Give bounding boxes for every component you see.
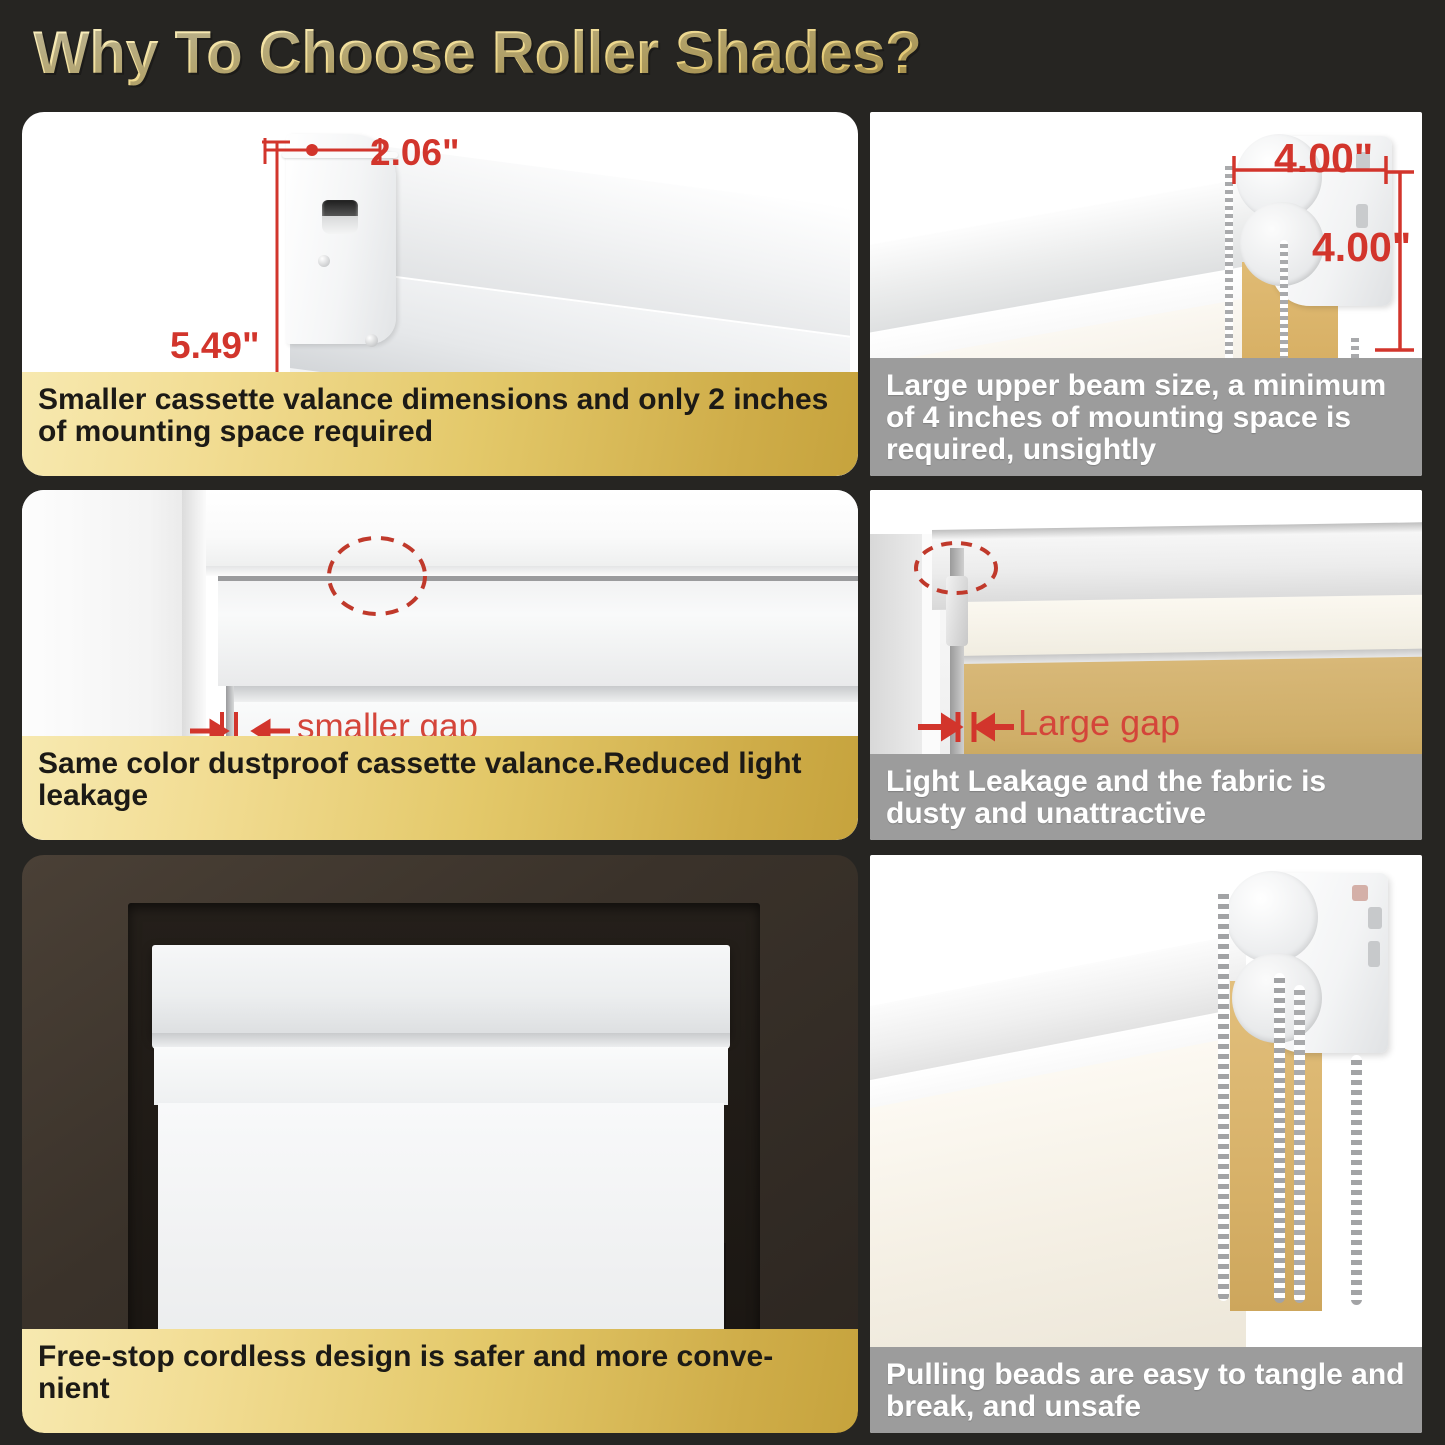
caption-con-upper-beam-size: Large upper beam size, a minimum of 4 in… [870, 358, 1422, 476]
caption-pro-cordless-design: Free-stop cordless design is safer and m… [22, 1329, 858, 1433]
caption-con-light-leakage: Light Leakage and the fabric is dusty an… [870, 754, 1422, 840]
caption-pro-cassette-size: Smaller cassette valance dimensions and … [22, 372, 858, 476]
annotation-height-dimension: 4.00" [1312, 224, 1411, 271]
valance-lower [154, 1047, 728, 1105]
annotation-width-dimension: 4.00" [1274, 135, 1373, 182]
panel-con-upper-beam-size: 4.00" 4.00" Large upper beam size, a min… [870, 112, 1422, 476]
panel-pro-cassette-size: 2.06" 5.49" Smaller cassette valance dim… [22, 112, 858, 476]
panel-con-light-leakage: Large gap Light Leakage and the fabric i… [870, 490, 1422, 840]
annotation-depth-dimension: 2.06" [370, 132, 460, 174]
panel-pro-cordless-design: Free-stop cordless design is safer and m… [22, 855, 858, 1433]
clover-top [1226, 871, 1318, 963]
annotation-height-dimension: 5.49" [170, 325, 260, 367]
caption-con-pulling-beads: Pulling beads are easy to tangle and bre… [870, 1347, 1422, 1433]
infographic-page: Why To Choose Roller Shades? [0, 0, 1445, 1445]
caption-pro-dustproof-valance: Same color dustproof cassette valance.Re… [22, 736, 858, 840]
cassette-valance [152, 945, 730, 1037]
panel-pro-dustproof-valance: smaller gap Same color dustproof cassett… [22, 490, 858, 840]
page-title: Why To Choose Roller Shades? [33, 18, 921, 87]
panel-con-pulling-beads: Pulling beads are easy to tangle and bre… [870, 855, 1422, 1433]
bead-chain-right [1351, 1055, 1362, 1305]
bead-chain-mid [1274, 973, 1285, 1303]
bead-chain-left [1218, 889, 1229, 1301]
annotation-large-gap: Large gap [1018, 702, 1180, 744]
bead-chain-mid2 [1294, 985, 1305, 1303]
